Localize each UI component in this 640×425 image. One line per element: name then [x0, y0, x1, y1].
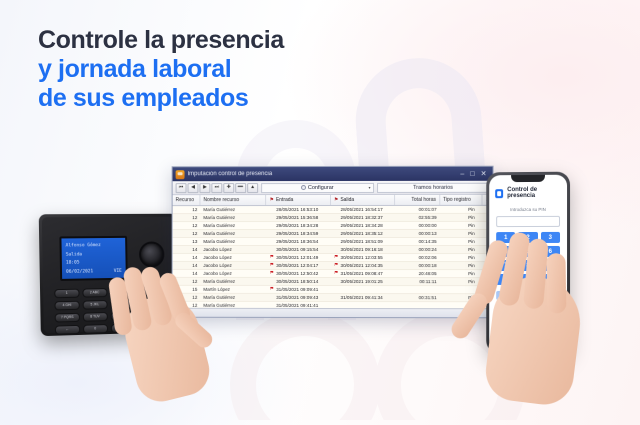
column-header-recurso[interactable]: Recurso [173, 195, 201, 205]
minimize-icon[interactable]: – [460, 170, 464, 177]
cell-salida: ⚑31/05/2021 09:08:47 [331, 271, 396, 277]
terminal-key[interactable]: 4 GHI [54, 301, 79, 311]
delete-record-icon[interactable]: ➖ [235, 183, 246, 193]
pin-marker-icon: ⚑ [334, 197, 338, 203]
cell-recurso: 12 [173, 231, 201, 236]
table-row[interactable]: 13María Gutiérrez⚑29/05/2021 18:36:54⚑29… [173, 238, 493, 246]
cell-total-horas: 00:01:07 [395, 207, 440, 212]
pin-marker-icon: ⚑ [334, 263, 339, 269]
page-headline: Controle la presencia y jornada laboral … [38, 26, 284, 113]
terminal-key[interactable]: 5 JKL [82, 300, 107, 310]
maximize-icon[interactable]: □ [470, 170, 474, 177]
cell-salida: ⚑29/05/2021 18:34:28 [331, 223, 396, 229]
phone-app-title: Control de presencia [507, 187, 561, 199]
cell-total-horas: 20:48:05 [395, 271, 440, 276]
cell-total-horas: 00:00:18 [395, 263, 440, 268]
terminal-key[interactable]: ← [55, 325, 80, 335]
cell-nombre-recurso: María Gutiérrez [200, 223, 266, 228]
terminal-key[interactable]: 8 TUV [83, 312, 108, 322]
cell-total-horas: 02:55:39 [395, 215, 440, 220]
cell-total-horas: 00:02:06 [395, 255, 440, 260]
window-title: Imputación control de presencia [188, 171, 461, 177]
first-record-icon[interactable]: ⏮ [176, 183, 187, 193]
cell-total-horas: 00:31:51 [395, 295, 440, 300]
previous-record-icon[interactable]: ◀ [188, 183, 199, 193]
table-row[interactable]: 12María Gutiérrez⚑29/05/2021 18:34:28⚑29… [173, 222, 493, 230]
cell-entrada: ⚑30/05/2021 12:50:42 [266, 271, 330, 277]
window-controls[interactable]: – □ ✕ [460, 170, 489, 177]
app-logo-icon [495, 189, 503, 198]
configurar-label: Configurar [308, 184, 334, 190]
cell-recurso: 13 [173, 239, 201, 244]
next-record-icon[interactable]: ▶ [199, 183, 210, 193]
cell-total-horas: 00:00:00 [395, 223, 440, 228]
tramos-horarios-button[interactable]: Tramos horarios [377, 182, 490, 192]
cell-entrada: ⚑30/05/2021 12:04:17 [266, 263, 330, 269]
terminal-key[interactable]: 7 PQRS [55, 313, 80, 323]
cell-nombre-recurso: María Gutiérrez [200, 215, 266, 220]
pin-marker-icon: ⚑ [334, 271, 339, 277]
cell-entrada: ⚑31/05/2021 09:09:41 [266, 287, 330, 293]
cell-recurso: 12 [173, 207, 201, 212]
table-row[interactable]: 12María Gutiérrez⚑28/05/2021 16:53:10⚑28… [173, 206, 493, 214]
cell-salida: ⚑30/05/2021 12:04:35 [331, 263, 396, 269]
phone-notch [511, 175, 545, 182]
cell-tipo-registro: Pin [440, 207, 483, 212]
lcd-date: 06/02/2021 [66, 268, 93, 277]
cell-salida: ⚑29/05/2021 18:51:09 [331, 239, 396, 245]
cell-tipo-registro: Pin [440, 215, 483, 220]
add-record-icon[interactable]: ✚ [223, 183, 234, 193]
headline-line-3: de sus empleados [38, 84, 284, 113]
cell-entrada: ⚑30/05/2021 09:15:54 [266, 247, 330, 253]
cell-entrada: ⚑28/05/2021 16:53:10 [266, 207, 330, 213]
table-row[interactable]: 12María Gutiérrez⚑29/05/2021 18:34:59⚑29… [173, 230, 493, 238]
last-record-icon[interactable]: ⏭ [211, 183, 222, 193]
headline-line-1: Controle la presencia [38, 26, 284, 55]
column-header-tipo-registro[interactable]: Tipo registro [440, 195, 483, 205]
table-row[interactable]: 14Jacobo López⚑30/05/2021 09:15:54⚑30/05… [173, 246, 493, 254]
cell-salida: ⚑31/05/2021 09:41:34 [331, 295, 396, 301]
cell-total-horas: 00:14:35 [395, 239, 440, 244]
cell-salida: ⚑30/05/2021 19:01:25 [331, 279, 396, 285]
chevron-down-icon[interactable]: ▾ [369, 185, 371, 190]
cell-salida: ⚑30/05/2021 09:16:18 [331, 247, 396, 253]
close-icon[interactable]: ✕ [481, 170, 487, 177]
grid-header-row: Recurso Nombre recurso ⚑ Entrada ⚑ Salid… [173, 195, 493, 206]
headline-line-2: y jornada laboral [38, 55, 284, 84]
cell-entrada: ⚑30/05/2021 18:50:14 [266, 279, 330, 285]
cell-entrada: ⚑29/05/2021 18:34:28 [266, 223, 330, 229]
terminal-key[interactable]: 2 ABC [82, 288, 107, 298]
gear-icon [301, 185, 306, 190]
cell-entrada: ⚑29/05/2021 18:34:59 [266, 231, 330, 237]
cell-salida: ⚑29/05/2021 18:32:37 [331, 215, 396, 221]
cell-recurso: 12 [173, 215, 201, 220]
record-navigation-buttons[interactable]: ⏮ ◀ ▶ ⏭ ✚ ➖ ▲ [176, 183, 259, 193]
cell-salida: ⚑30/05/2021 12:03:55 [331, 255, 396, 261]
configurar-button[interactable]: Configurar ▾ [261, 182, 373, 192]
pin-input[interactable] [496, 216, 560, 227]
column-header-entrada-label: Entrada [276, 197, 293, 203]
column-header-entrada[interactable]: ⚑ Entrada [266, 195, 330, 205]
edit-record-icon[interactable]: ▲ [247, 183, 258, 193]
cell-nombre-recurso: María Gutiérrez [200, 207, 266, 212]
pin-instruction-label: Introduzca su PIN [489, 207, 567, 212]
app-icon [176, 170, 185, 179]
cell-entrada: ⚑30/05/2021 12:01:49 [266, 255, 330, 261]
cell-salida: ⚑29/05/2021 18:35:12 [331, 231, 396, 237]
cell-entrada: ⚑31/05/2021 09:09:43 [266, 295, 330, 301]
cell-entrada: ⚑29/05/2021 18:36:54 [266, 239, 330, 244]
table-row[interactable]: 12María Gutiérrez⚑29/05/2021 15:36:58⚑29… [173, 214, 493, 222]
column-header-total-horas[interactable]: Total horas [395, 195, 440, 205]
terminal-key[interactable]: 0 [83, 324, 108, 334]
cell-total-horas: 00:11:11 [395, 279, 440, 284]
pin-marker-icon: ⚑ [334, 255, 339, 261]
cell-total-horas: 00:00:24 [395, 247, 440, 252]
right-hand [442, 224, 613, 421]
column-header-salida-label: Salida [340, 197, 354, 203]
cell-salida: ⚑28/05/2021 16:54:17 [331, 207, 396, 213]
cell-nombre-recurso: María Gutiérrez [200, 231, 266, 236]
tramos-horarios-label: Tramos horarios [413, 184, 453, 190]
pin-marker-icon: ⚑ [269, 263, 274, 268]
pin-marker-icon: ⚑ [269, 197, 273, 203]
cell-nombre-recurso: María Gutiérrez [200, 239, 266, 244]
pin-marker-icon: ⚑ [269, 255, 274, 260]
column-header-salida[interactable]: ⚑ Salida [331, 195, 396, 205]
window-titlebar: Imputación control de presencia – □ ✕ [173, 167, 493, 182]
cell-total-horas: 00:00:13 [395, 231, 440, 236]
column-header-nombre-recurso[interactable]: Nombre recurso [200, 195, 266, 205]
cell-recurso: 12 [173, 223, 201, 228]
window-toolbar: ⏮ ◀ ▶ ⏭ ✚ ➖ ▲ Configurar ▾ Tramos horari… [173, 181, 493, 195]
terminal-key[interactable]: 1 [54, 289, 79, 299]
pin-marker-icon: ⚑ [269, 287, 274, 292]
cell-entrada: ⚑29/05/2021 15:36:58 [266, 215, 330, 221]
pin-marker-icon: ⚑ [269, 271, 274, 276]
